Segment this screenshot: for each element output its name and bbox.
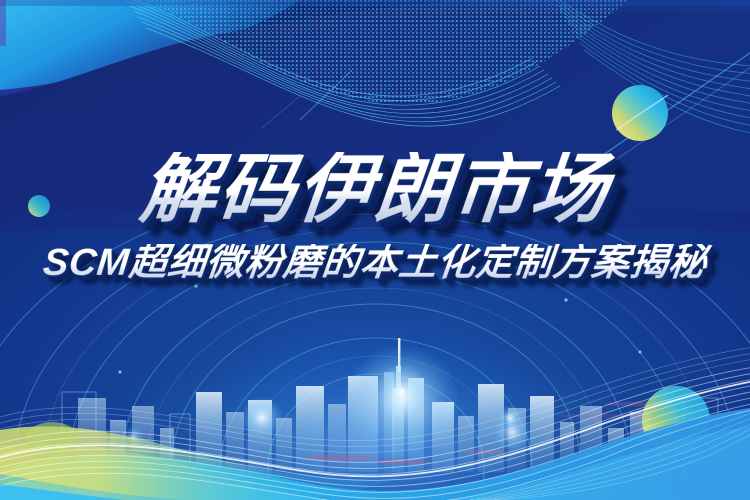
promo-banner: 解码伊朗市场 SCM超细微粉磨的本土化定制方案揭秘 [0,0,750,500]
gradient-sphere-top-right [612,85,668,141]
gradient-sphere-bottom-right [642,386,710,454]
city-haze-glow [126,340,626,500]
ribbon-lines-lower-right [470,410,750,500]
bottom-green-wave-2 [0,443,404,500]
ribbon-highlight [0,380,750,476]
banner-sub-title: SCM超细微粉磨的本土化定制方案揭秘 [0,244,750,282]
building-glow-right [492,412,532,452]
bottom-cyan-wave [0,408,750,500]
banner-main-title: 解码伊朗市场 [0,152,750,228]
banner-text-block: 解码伊朗市场 SCM超细微粉磨的本土化定制方案揭秘 [0,152,750,282]
mesh-wave-lines [118,0,560,126]
tower-glow [344,344,460,456]
bottom-green-wave [0,426,400,500]
purple-glow [0,0,230,160]
left-edge-tint [0,0,6,46]
green-wave-blob [26,422,78,454]
sphere-highlight-streak [616,95,668,130]
building-glow-far-left [121,426,145,450]
building-glow-left [240,396,284,440]
flowing-ribbon-lines-right [548,0,750,138]
building-glow-far-right [638,416,666,444]
flowing-ribbon-lines-bottom [0,366,750,500]
bottom-cyan-wave-2 [0,426,750,500]
tower-glow-core [376,362,428,422]
top-cyan-band [0,0,300,90]
top-edge-tint [0,0,750,6]
halftone-mesh-wave [90,0,670,130]
building-glow-right-core [497,405,523,431]
city-skyline-silhouette [62,338,718,476]
warm-accent-streaks [304,402,688,465]
